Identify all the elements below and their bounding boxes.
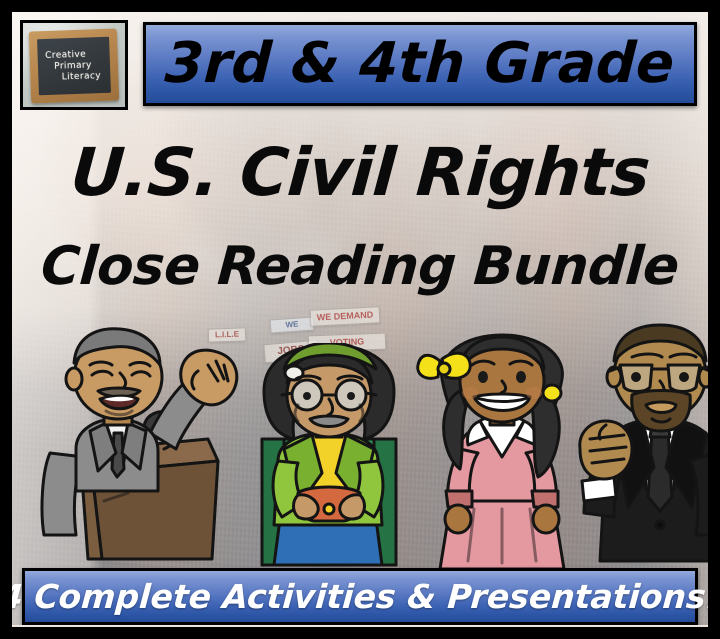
page-title-line2: Close Reading Bundle bbox=[12, 240, 708, 293]
character-group bbox=[24, 321, 708, 571]
contents-label: 4 Complete Activities & Presentations! bbox=[0, 580, 720, 613]
raised-fist bbox=[580, 421, 632, 479]
logo-line-2: Primary bbox=[54, 60, 92, 71]
hair-bow-left bbox=[418, 353, 470, 378]
chalkboard-frame: Creative Primary Literacy bbox=[29, 28, 119, 103]
character-seated-woman bbox=[236, 343, 422, 571]
grade-level-banner: 3rd & 4th Grade bbox=[143, 22, 697, 106]
contents-banner: 4 Complete Activities & Presentations! bbox=[22, 568, 698, 625]
grade-level-label: 3rd & 4th Grade bbox=[164, 36, 676, 92]
character-young-girl bbox=[412, 331, 592, 571]
hair-bow-right bbox=[543, 385, 561, 401]
logo-line-3: Literacy bbox=[62, 71, 102, 82]
character-raised-fist-man bbox=[570, 321, 708, 571]
chalkboard-surface: Creative Primary Literacy bbox=[37, 37, 111, 95]
logo-line-1: Creative bbox=[45, 50, 86, 61]
product-cover: L.I.L.E WE WE DEMAND JOBS VOTING NOW! bbox=[0, 0, 720, 639]
brand-logo[interactable]: Creative Primary Literacy bbox=[20, 20, 128, 110]
bottom-strip bbox=[12, 625, 708, 631]
character-speaker-at-podium bbox=[32, 321, 262, 571]
page-title-line1: U.S. Civil Rights bbox=[12, 140, 708, 206]
